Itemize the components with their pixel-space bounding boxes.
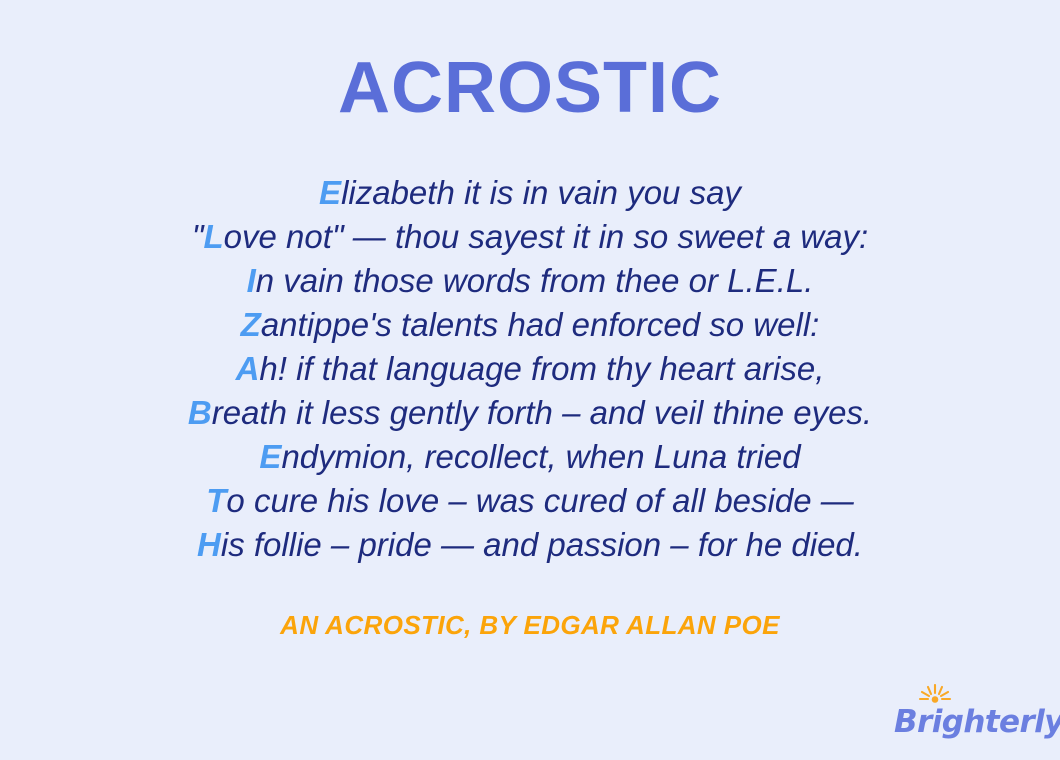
poem-line-text: ove not" — thou sayest it in so sweet a … xyxy=(224,218,869,255)
poem-line: "Love not" — thou sayest it in so sweet … xyxy=(0,215,1060,259)
poem-line: Zantippe's talents had enforced so well: xyxy=(0,303,1060,347)
poem-body: Elizabeth it is in vain you say"Love not… xyxy=(0,171,1060,567)
poem-line-text: reath it less gently forth – and veil th… xyxy=(212,394,872,431)
poem-line-initial: I xyxy=(247,262,256,299)
brighterly-logo[interactable]: Brighterly xyxy=(894,684,1026,742)
poem-line: Ah! if that language from thy heart aris… xyxy=(0,347,1060,391)
poem-line-prefix: " xyxy=(192,218,204,255)
poem-line: In vain those words from thee or L.E.L. xyxy=(0,259,1060,303)
poem-line-initial: L xyxy=(204,218,224,255)
poem-attribution: AN ACROSTIC, BY EDGAR ALLAN POE xyxy=(0,610,1060,641)
poem-line-text: lizabeth it is in vain you say xyxy=(341,174,741,211)
poem-line: Breath it less gently forth – and veil t… xyxy=(0,391,1060,435)
poem-line-initial: B xyxy=(188,394,212,431)
poem-line: Endymion, recollect, when Luna tried xyxy=(0,435,1060,479)
poem-line-text: antippe's talents had enforced so well: xyxy=(261,306,820,343)
poem-line-text: ndymion, recollect, when Luna tried xyxy=(281,438,800,475)
poem-line-initial: T xyxy=(206,482,226,519)
poem-line-initial: Z xyxy=(241,306,261,343)
poem-line: His follie – pride — and passion – for h… xyxy=(0,523,1060,567)
poem-line-initial: E xyxy=(319,174,341,211)
poem-line-text: h! if that language from thy heart arise… xyxy=(259,350,824,387)
acrostic-poem-card: ACROSTIC Elizabeth it is in vain you say… xyxy=(0,0,1060,760)
poem-line-initial: H xyxy=(197,526,221,563)
poem-line-text: n vain those words from thee or L.E.L. xyxy=(256,262,814,299)
poem-line: To cure his love – was cured of all besi… xyxy=(0,479,1060,523)
poem-line-text: is follie – pride — and passion – for he… xyxy=(221,526,863,563)
poem-line-text: o cure his love – was cured of all besid… xyxy=(226,482,853,519)
poem-line-initial: E xyxy=(259,438,281,475)
sunburst-icon xyxy=(918,684,952,706)
poem-line: Elizabeth it is in vain you say xyxy=(0,171,1060,215)
logo-wordmark: Brighterly xyxy=(894,707,1060,738)
poem-line-initial: A xyxy=(236,350,260,387)
page-title: ACROSTIC xyxy=(0,52,1060,124)
